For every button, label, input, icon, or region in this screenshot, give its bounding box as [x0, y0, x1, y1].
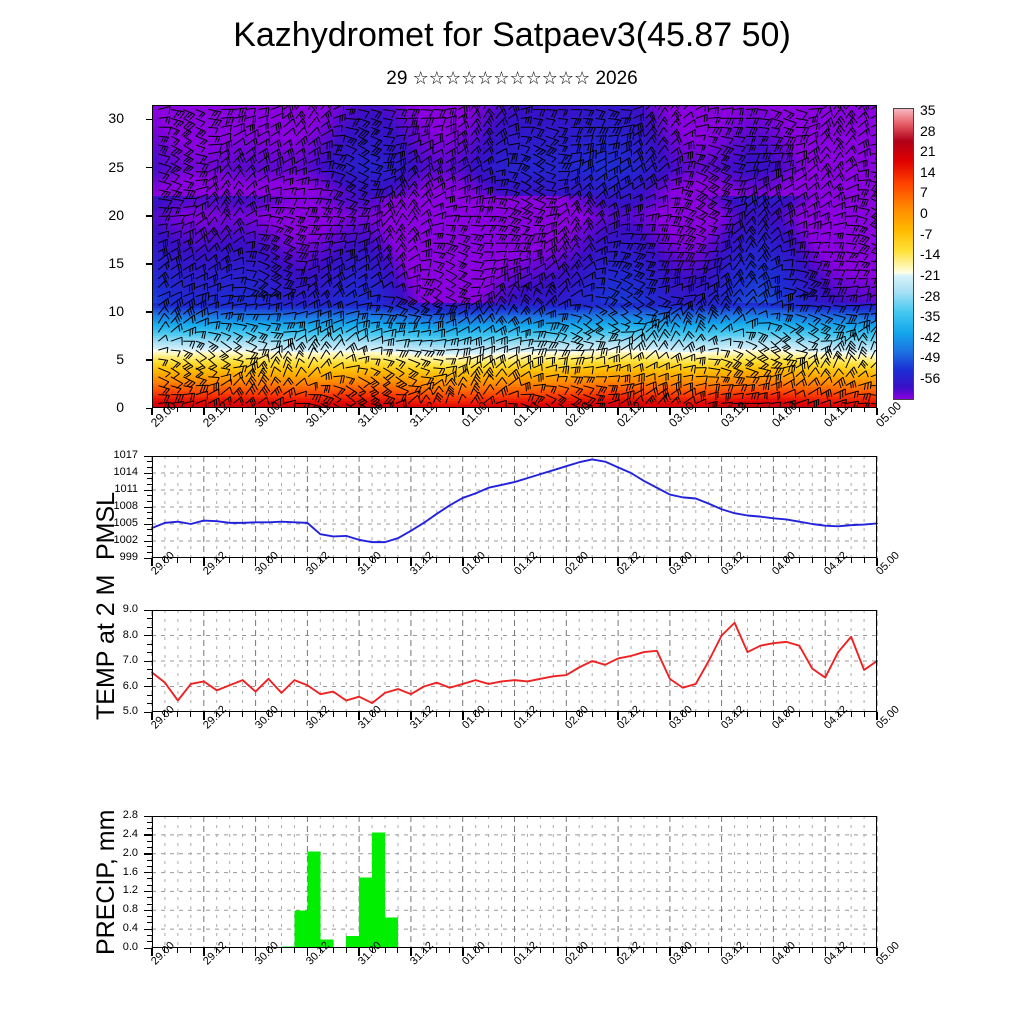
precip-xtick-minor — [229, 948, 230, 953]
precip-xtick-minor — [643, 948, 644, 953]
main-xtick-minor — [449, 408, 450, 412]
precip-ytick-mark — [144, 929, 152, 930]
precip-ytick-minor — [147, 904, 152, 905]
precip-xtick-minor — [385, 948, 386, 953]
main-xtick-minor — [592, 408, 593, 412]
pmsl-ytick-mark — [144, 524, 152, 525]
precip-xtick-minor — [682, 948, 683, 953]
pmsl-xtick-minor — [553, 558, 554, 563]
colorbar-tick-10: -35 — [920, 308, 940, 324]
main-ytick-20: 20 — [4, 208, 124, 222]
colorbar-tick-8: -21 — [920, 267, 940, 283]
pmsl-ytick-minor — [147, 461, 152, 462]
date-month-glyphs: ☆☆☆☆☆☆☆☆☆☆☆ — [413, 68, 591, 88]
main-xtick-minor — [747, 408, 748, 412]
temp-2m-xtick-minor — [229, 712, 230, 717]
precip-xtick-minor — [177, 948, 178, 953]
main-ytick-25: 25 — [4, 160, 124, 174]
temp-2m-ytick-minor — [147, 652, 152, 653]
colorbar-tick-13: -56 — [920, 370, 940, 386]
precip-xtick-minor — [436, 948, 437, 953]
main-ytick-30: 30 — [4, 111, 124, 125]
temp-2m-xtick-05.00: 05.00 — [874, 704, 902, 732]
precip-ytick-mark — [144, 910, 152, 911]
colorbar-tick-11: -42 — [920, 329, 940, 345]
pmsl-xtick-minor — [229, 558, 230, 563]
precip-xtick-minor — [488, 948, 489, 953]
precip-xtick-minor — [851, 948, 852, 953]
precip-xtick-minor — [320, 948, 321, 953]
temp-2m-ytick-minor — [147, 627, 152, 628]
precip-xtick-minor — [760, 948, 761, 953]
precip-xtick-minor — [242, 948, 243, 953]
main-ytick-15: 15 — [4, 256, 124, 270]
temp-2m-ytick-minor — [147, 618, 152, 619]
main-y-axis: 051015202530 — [0, 105, 150, 408]
pmsl-ytick-1014: 1014 — [8, 467, 138, 478]
precip-ytick-minor — [147, 885, 152, 886]
temp-2m-ytick-8.0: 8.0 — [8, 630, 138, 641]
pmsl-xtick-minor — [708, 558, 709, 563]
temp-2m-xtick-minor — [527, 712, 528, 717]
pmsl-xtick-minor — [747, 558, 748, 563]
precip-ytick-minor — [147, 828, 152, 829]
temp-2m-ytick-minor — [147, 669, 152, 670]
temp-2m-xtick-minor — [372, 712, 373, 717]
temp-2m-ytick-mark — [144, 686, 152, 687]
pmsl-ytick-mark — [144, 507, 152, 508]
pmsl-xtick-minor — [527, 558, 528, 563]
precip-ytick-mark — [144, 834, 152, 835]
pmsl-xtick-minor — [320, 558, 321, 563]
main-xtick-minor — [177, 408, 178, 412]
pmsl-xtick-minor — [423, 558, 424, 563]
main-xtick-minor — [656, 408, 657, 412]
main-xtick-minor — [229, 408, 230, 412]
plot-frame — [152, 105, 877, 408]
pmsl-xtick-minor — [656, 558, 657, 563]
temp-2m-xtick-minor — [177, 712, 178, 717]
date-day: 29 — [386, 68, 407, 89]
date-year: 2026 — [595, 68, 637, 89]
main-xtick-minor — [397, 408, 398, 412]
precip-xtick-minor — [501, 948, 502, 953]
temp-2m-xtick-minor — [488, 712, 489, 717]
precip-xtick-minor — [475, 948, 476, 953]
colorbar-tick-9: -28 — [920, 288, 940, 304]
pmsl-xtick-minor — [216, 558, 217, 563]
temp-2m-xtick-minor — [449, 712, 450, 717]
temp-2m-xtick-minor — [423, 712, 424, 717]
precip-ytick-1.2: 1.2 — [8, 885, 138, 896]
pmsl-xtick-minor — [436, 558, 437, 563]
pmsl-xtick-minor — [579, 558, 580, 563]
pmsl-ytick-minor — [147, 467, 152, 468]
pmsl-ytick-1017: 1017 — [8, 450, 138, 461]
temp-2m-xtick-minor — [540, 712, 541, 717]
temp-2m-xtick-minor — [812, 712, 813, 717]
colorbar-tick-2: 21 — [920, 143, 936, 159]
main-xtick-minor — [631, 408, 632, 412]
colorbar-tick-7: -14 — [920, 246, 940, 262]
temp-2m-xtick-minor — [397, 712, 398, 717]
pmsl-xtick-minor — [449, 558, 450, 563]
pmsl-ytick-minor — [147, 501, 152, 502]
colorbar-tick-6: -7 — [920, 226, 932, 242]
precip-xtick-minor — [268, 948, 269, 953]
precip-xtick-minor — [838, 948, 839, 953]
main-xtick-minor — [475, 408, 476, 412]
pmsl-ytick-minor — [147, 535, 152, 536]
precip-ytick-minor — [147, 897, 152, 898]
temp-2m-xtick-minor — [631, 712, 632, 717]
pmsl-xtick-minor — [501, 558, 502, 563]
pmsl-xtick-minor — [631, 558, 632, 563]
precip-xtick-minor — [449, 948, 450, 953]
precip-x-axis: 29.0029.1230.0030.1231.0031.1201.0001.12… — [0, 948, 1024, 1004]
precip-ytick-2.8: 2.8 — [8, 810, 138, 821]
main-xtick-minor — [333, 408, 334, 412]
main-xtick-minor — [605, 408, 606, 412]
temp-2m-xtick-minor — [864, 712, 865, 717]
temp-2m-ytick-mark — [144, 635, 152, 636]
main-xtick-minor — [812, 408, 813, 412]
temp-2m-xtick-minor — [695, 712, 696, 717]
pmsl-xtick-minor — [605, 558, 606, 563]
main-xtick-minor — [423, 408, 424, 412]
temp-2m-xtick-minor — [242, 712, 243, 717]
date-subtitle: 29 ☆☆☆☆☆☆☆☆☆☆☆ 2026 — [0, 68, 1024, 90]
precip-ytick-mark — [144, 816, 152, 817]
main-xtick-minor — [799, 408, 800, 412]
pmsl-ytick-1008: 1008 — [8, 501, 138, 512]
main-xtick-minor — [488, 408, 489, 412]
pmsl-xtick-minor — [682, 558, 683, 563]
colorbar-tick-labels: 3528211470-7-14-21-28-35-42-49-56 — [920, 100, 990, 410]
main-ytick-5: 5 — [4, 352, 124, 366]
precip-xtick-minor — [734, 948, 735, 953]
main-xtick-minor — [851, 408, 852, 412]
precip-frame — [152, 816, 877, 948]
temp-2m-xtick-minor — [838, 712, 839, 717]
precip-xtick-minor — [695, 948, 696, 953]
temp-2m-xtick-minor — [708, 712, 709, 717]
colorbar-tick-3: 14 — [920, 164, 936, 180]
precip-ytick-minor — [147, 878, 152, 879]
precip-xtick-minor — [579, 948, 580, 953]
pmsl-xtick-minor — [164, 558, 165, 563]
main-ytick-mark — [146, 263, 152, 264]
main-ytick-mark — [146, 119, 152, 120]
precip-ytick-0.8: 0.8 — [8, 904, 138, 915]
pmsl-xtick-minor — [397, 558, 398, 563]
pmsl-xtick-minor — [760, 558, 761, 563]
temp-2m-xtick-minor — [656, 712, 657, 717]
temp-2m-ytick-mark — [144, 610, 152, 611]
pmsl-xtick-minor — [592, 558, 593, 563]
precip-xtick-minor — [631, 948, 632, 953]
temp-2m-xtick-minor — [216, 712, 217, 717]
temp-2m-xtick-minor — [799, 712, 800, 717]
pmsl-frame — [152, 456, 877, 558]
temp-2m-ytick-7.0: 7.0 — [8, 655, 138, 666]
pmsl-xtick-minor — [475, 558, 476, 563]
main-xtick-minor — [320, 408, 321, 412]
main-xtick-minor — [216, 408, 217, 412]
main-xtick-minor — [190, 408, 191, 412]
pmsl-ytick-minor — [147, 484, 152, 485]
colorbar-tick-0: 35 — [920, 102, 936, 118]
temp-2m-xtick-minor — [333, 712, 334, 717]
main-xtick-minor — [734, 408, 735, 412]
temp-2m-xtick-minor — [436, 712, 437, 717]
main-xtick-minor — [786, 408, 787, 412]
colorbar-tick-12: -49 — [920, 349, 940, 365]
main-xtick-minor — [579, 408, 580, 412]
temp-2m-xtick-minor — [281, 712, 282, 717]
temp-2m-xtick-minor — [385, 712, 386, 717]
main-xtick-minor — [436, 408, 437, 412]
pmsl-xtick-minor — [268, 558, 269, 563]
temp-2m-xtick-minor — [294, 712, 295, 717]
main-xtick-minor — [281, 408, 282, 412]
temp-2m-xtick-minor — [320, 712, 321, 717]
pmsl-xtick-minor — [643, 558, 644, 563]
temp-2m-xtick-minor — [734, 712, 735, 717]
temp-panel — [152, 610, 877, 712]
temp-2m-xtick-minor — [164, 712, 165, 717]
temp-2m-ytick-minor — [147, 678, 152, 679]
precip-xtick-minor — [216, 948, 217, 953]
pmsl-ytick-minor — [147, 512, 152, 513]
precip-xtick-minor — [605, 948, 606, 953]
precip-ytick-minor — [147, 935, 152, 936]
pmsl-xtick-05.00: 05.00 — [874, 550, 902, 578]
precip-ytick-mark — [144, 872, 152, 873]
temp-2m-ytick-minor — [147, 644, 152, 645]
pmsl-xtick-minor — [864, 558, 865, 563]
pmsl-ytick-mark — [144, 490, 152, 491]
pmsl-ytick-minor — [147, 546, 152, 547]
pmsl-ytick-1002: 1002 — [8, 535, 138, 546]
pmsl-xtick-minor — [799, 558, 800, 563]
pmsl-xtick-minor — [851, 558, 852, 563]
temp-2m-xtick-minor — [760, 712, 761, 717]
precip-xtick-minor — [812, 948, 813, 953]
pmsl-xtick-minor — [838, 558, 839, 563]
main-xtick-minor — [242, 408, 243, 412]
precip-ytick-minor — [147, 822, 152, 823]
temp-2m-xtick-minor — [501, 712, 502, 717]
temp-2m-xtick-minor — [579, 712, 580, 717]
pmsl-xtick-minor — [488, 558, 489, 563]
precip-ytick-1.6: 1.6 — [8, 867, 138, 878]
temp-2m-xtick-minor — [851, 712, 852, 717]
precip-ytick-0.4: 0.4 — [8, 923, 138, 934]
main-xtick-minor — [864, 408, 865, 412]
pmsl-ytick-minor — [147, 529, 152, 530]
precip-xtick-minor — [799, 948, 800, 953]
pmsl-xtick-minor — [333, 558, 334, 563]
precip-xtick-minor — [423, 948, 424, 953]
pmsl-ytick-minor — [147, 552, 152, 553]
temp-2m-xtick-minor — [592, 712, 593, 717]
main-xtick-05.00: 05.00 — [873, 399, 904, 430]
precip-xtick-minor — [592, 948, 593, 953]
temp-2m-x-axis: 29.0029.1230.0030.1231.0031.1201.0001.12… — [0, 712, 1024, 768]
precip-ytick-minor — [147, 866, 152, 867]
main-ytick-mark — [146, 215, 152, 216]
precip-ytick-minor — [147, 841, 152, 842]
precip-y-axis: 0.00.40.81.21.62.02.42.8 — [0, 816, 152, 948]
pmsl-xtick-minor — [540, 558, 541, 563]
precip-xtick-minor — [786, 948, 787, 953]
pmsl-ytick-minor — [147, 478, 152, 479]
precip-ytick-mark — [144, 853, 152, 854]
precip-xtick-minor — [708, 948, 709, 953]
pmsl-xtick-minor — [695, 558, 696, 563]
temp-2m-xtick-minor — [747, 712, 748, 717]
pmsl-panel — [152, 456, 877, 558]
temp-2m-xtick-minor — [682, 712, 683, 717]
main-xtick-minor — [643, 408, 644, 412]
precip-ytick-minor — [147, 847, 152, 848]
sounding-cross-section-panel — [152, 105, 877, 408]
main-ytick-mark — [146, 311, 152, 312]
precip-xtick-minor — [553, 948, 554, 953]
main-xtick-minor — [553, 408, 554, 412]
colorbar-tick-5: 0 — [920, 205, 928, 221]
precip-xtick-minor — [294, 948, 295, 953]
precip-xtick-minor — [164, 948, 165, 953]
pmsl-xtick-minor — [346, 558, 347, 563]
precip-panel — [152, 816, 877, 948]
pmsl-xtick-minor — [242, 558, 243, 563]
precip-xtick-minor — [540, 948, 541, 953]
pmsl-y-axis: 999100210051008101110141017 — [0, 456, 152, 558]
main-xtick-minor — [346, 408, 347, 412]
pmsl-ytick-mark — [144, 456, 152, 457]
temp-2m-xtick-minor — [346, 712, 347, 717]
precip-ytick-mark — [144, 891, 152, 892]
precip-xtick-minor — [397, 948, 398, 953]
pmsl-xtick-minor — [281, 558, 282, 563]
main-xtick-minor — [708, 408, 709, 412]
page-title: Kazhydromet for Satpaev3(45.87 50) — [0, 16, 1024, 55]
precip-ytick-minor — [147, 922, 152, 923]
precip-xtick-minor — [864, 948, 865, 953]
temp-2m-xtick-minor — [475, 712, 476, 717]
pmsl-xtick-minor — [177, 558, 178, 563]
main-ytick-mark — [146, 359, 152, 360]
main-xtick-minor — [540, 408, 541, 412]
temp-2m-xtick-minor — [190, 712, 191, 717]
pmsl-ytick-minor — [147, 495, 152, 496]
pmsl-xtick-minor — [786, 558, 787, 563]
precip-xtick-minor — [333, 948, 334, 953]
precip-xtick-minor — [190, 948, 191, 953]
main-xtick-minor — [682, 408, 683, 412]
pmsl-ytick-1011: 1011 — [8, 484, 138, 495]
main-ytick-10: 10 — [4, 304, 124, 318]
precip-ytick-2.4: 2.4 — [8, 829, 138, 840]
temp-2m-xtick-minor — [553, 712, 554, 717]
temp-2m-xtick-minor — [268, 712, 269, 717]
pmsl-xtick-minor — [734, 558, 735, 563]
temp-2m-ytick-6.0: 6.0 — [8, 681, 138, 692]
main-xtick-minor — [760, 408, 761, 412]
colorbar-tick-1: 28 — [920, 123, 936, 139]
main-xtick-minor — [527, 408, 528, 412]
temp-2m-ytick-minor — [147, 695, 152, 696]
precip-ytick-minor — [147, 941, 152, 942]
pmsl-xtick-minor — [385, 558, 386, 563]
precip-xtick-05.00: 05.00 — [874, 940, 902, 968]
precip-xtick-minor — [527, 948, 528, 953]
pmsl-ytick-minor — [147, 518, 152, 519]
precip-ytick-minor — [147, 916, 152, 917]
precip-xtick-minor — [346, 948, 347, 953]
main-xtick-minor — [501, 408, 502, 412]
precip-xtick-minor — [372, 948, 373, 953]
temp-2m-y-axis: 5.06.07.08.09.0 — [0, 610, 152, 712]
main-xtick-minor — [372, 408, 373, 412]
temp-2m-xtick-minor — [786, 712, 787, 717]
colorbar — [893, 108, 914, 400]
main-xtick-mark — [514, 408, 516, 415]
temp-2m-xtick-minor — [643, 712, 644, 717]
temp-2m-xtick-minor — [605, 712, 606, 717]
pmsl-xtick-minor — [372, 558, 373, 563]
precip-ytick-2.0: 2.0 — [8, 848, 138, 859]
main-xtick-minor — [294, 408, 295, 412]
precip-xtick-minor — [747, 948, 748, 953]
colorbar-tick-4: 7 — [920, 184, 928, 200]
precip-xtick-minor — [281, 948, 282, 953]
temp-2m-ytick-9.0: 9.0 — [8, 604, 138, 615]
precip-xtick-minor — [656, 948, 657, 953]
pmsl-ytick-1005: 1005 — [8, 518, 138, 529]
temp-2m-ytick-minor — [147, 703, 152, 704]
pmsl-ytick-mark — [144, 541, 152, 542]
pmsl-ytick-mark — [144, 473, 152, 474]
temp-2m-ytick-mark — [144, 661, 152, 662]
temp-frame — [152, 610, 877, 712]
main-xtick-minor — [695, 408, 696, 412]
main-xtick-minor — [838, 408, 839, 412]
main-xtick-minor — [268, 408, 269, 412]
pmsl-xtick-minor — [812, 558, 813, 563]
main-xtick-minor — [385, 408, 386, 412]
pmsl-xtick-minor — [190, 558, 191, 563]
main-xtick-minor — [164, 408, 165, 412]
precip-ytick-minor — [147, 860, 152, 861]
pmsl-xtick-minor — [294, 558, 295, 563]
pmsl-x-axis: 29.0029.1230.0030.1231.0031.1201.0001.12… — [0, 558, 1024, 614]
main-ytick-mark — [146, 167, 152, 168]
